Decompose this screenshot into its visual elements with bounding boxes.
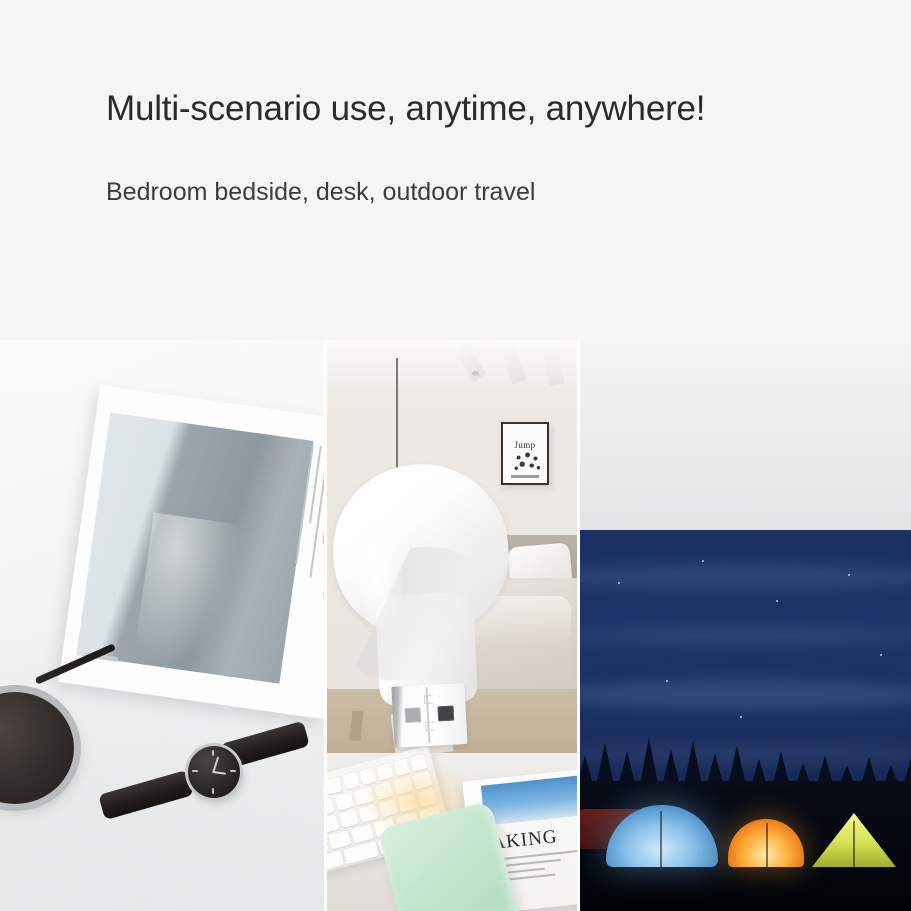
magazine-sky-photo	[481, 775, 580, 826]
panel-desk-flatlay	[0, 340, 327, 911]
watch-tick	[212, 750, 214, 756]
ceiling-spotlight	[472, 371, 479, 376]
usb-led-bulb-center	[329, 460, 518, 745]
scene-strip: Jump EAKING	[0, 340, 911, 911]
ceiling-beam	[446, 340, 486, 382]
usb-contact-pad	[405, 707, 422, 724]
star	[776, 600, 778, 602]
watch-tick	[230, 770, 236, 772]
wristwatch-face	[188, 746, 240, 798]
star	[848, 574, 850, 576]
upper-light-backdrop	[580, 340, 911, 530]
page-title: Multi-scenario use, anytime, anywhere!	[106, 89, 705, 129]
ceiling-beam	[539, 340, 564, 386]
usb-notch	[424, 694, 433, 703]
star	[666, 680, 668, 682]
panel-divider	[324, 340, 327, 911]
tent-pole	[853, 821, 855, 867]
star	[702, 560, 704, 562]
tent-pole	[660, 811, 662, 867]
watch-tick	[192, 770, 198, 772]
page-subtitle: Bedroom bedside, desk, outdoor travel	[106, 178, 535, 207]
ceiling-beam	[494, 340, 527, 385]
magazine-photo	[76, 413, 313, 684]
poster-caption	[511, 475, 539, 478]
usb-connector	[391, 683, 468, 747]
star	[618, 582, 620, 584]
cloud-band	[580, 626, 911, 646]
poster-title: Jump	[503, 440, 547, 450]
watch-tick	[212, 788, 214, 794]
panel-divider	[577, 340, 580, 911]
panel-night-camping	[580, 340, 911, 911]
usb-notch	[425, 722, 434, 731]
poster-floral-art	[512, 451, 542, 473]
night-sky-photo	[580, 530, 911, 911]
cloud-band	[580, 564, 911, 590]
star	[880, 654, 882, 656]
bedroom-ceiling	[327, 340, 580, 388]
usb-contact-pad	[438, 705, 455, 722]
tent-pole	[766, 823, 768, 867]
product-banner: Multi-scenario use, anytime, anywhere! B…	[0, 0, 911, 911]
header-band: Multi-scenario use, anytime, anywhere! B…	[0, 0, 911, 340]
magazine-object	[58, 385, 327, 719]
framed-poster: Jump	[501, 422, 549, 485]
